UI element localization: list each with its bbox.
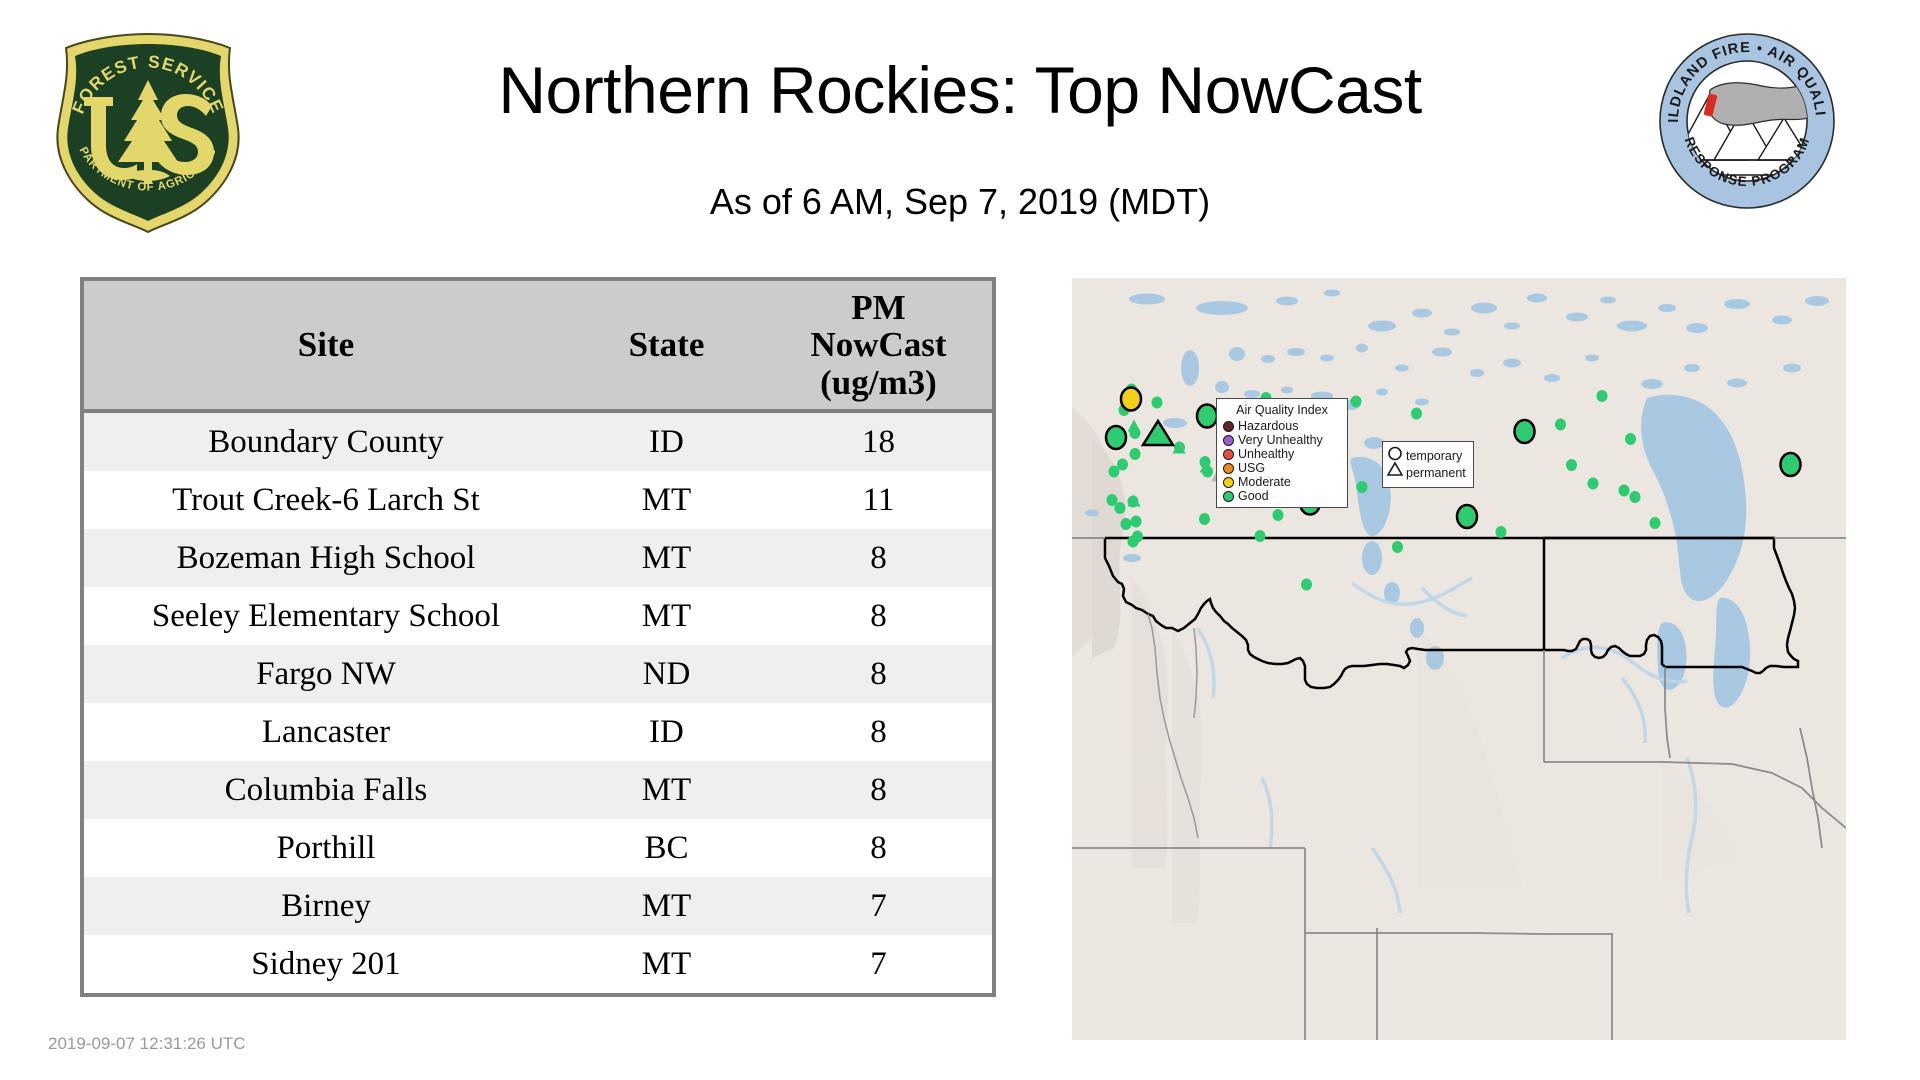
site-type-glyphs xyxy=(1387,445,1403,484)
map-site-marker-small[interactable] xyxy=(1625,433,1636,445)
map-site-marker-small[interactable] xyxy=(1619,485,1630,497)
aqi-color-dot-icon xyxy=(1223,435,1234,446)
column-header-site: Site xyxy=(84,281,568,411)
aqi-legend: Air Quality Index HazardousVery Unhealth… xyxy=(1216,398,1348,508)
nowcast-table-container: Site State PM NowCast (ug/m3) Boundary C… xyxy=(80,277,996,997)
map-site-marker-small[interactable] xyxy=(1588,478,1599,490)
aqi-legend-item: Good xyxy=(1223,489,1341,503)
footer-timestamp: 2019-09-07 12:31:26 UTC xyxy=(48,1034,246,1054)
map-site-marker-small[interactable] xyxy=(1351,396,1362,408)
table-header: Site State PM NowCast (ug/m3) xyxy=(84,281,992,411)
aqi-color-dot-icon xyxy=(1223,477,1234,488)
map-site-marker-small[interactable] xyxy=(1115,502,1126,514)
site-type-legend: temporary permanent xyxy=(1382,441,1474,488)
column-header-line-2: NowCast xyxy=(765,326,992,363)
site-cell: Seeley Elementary School xyxy=(84,587,568,645)
map-site-marker-temporary[interactable] xyxy=(1197,405,1217,428)
table-row: Seeley Elementary SchoolMT8 xyxy=(84,587,992,645)
aqi-legend-title: Air Quality Index xyxy=(1223,403,1341,417)
state-cell: MT xyxy=(568,877,765,935)
map-site-marker-small[interactable] xyxy=(1555,419,1566,431)
table-row: PorthillBC8 xyxy=(84,819,992,877)
map-site-marker-small[interactable] xyxy=(1566,459,1577,471)
aqi-legend-item: Hazardous xyxy=(1223,419,1341,433)
aqi-legend-label: Moderate xyxy=(1238,475,1291,489)
value-cell: 8 xyxy=(765,587,992,645)
page-subtitle: As of 6 AM, Sep 7, 2019 (MDT) xyxy=(0,181,1920,223)
aqi-legend-label: USG xyxy=(1238,461,1265,475)
map-site-marker-temporary[interactable] xyxy=(1121,388,1141,411)
state-cell: MT xyxy=(568,587,765,645)
site-cell: Birney xyxy=(84,877,568,935)
state-cell: BC xyxy=(568,819,765,877)
state-cell: MT xyxy=(568,761,765,819)
aqi-legend-label: Very Unhealthy xyxy=(1238,433,1323,447)
aqi-legend-item: Unhealthy xyxy=(1223,447,1341,461)
aqi-color-dot-icon xyxy=(1223,491,1234,502)
value-cell: 7 xyxy=(765,877,992,935)
aqi-color-dot-icon xyxy=(1223,449,1234,460)
site-cell: Sidney 201 xyxy=(84,935,568,993)
state-cell: ND xyxy=(568,645,765,703)
temporary-circle-icon xyxy=(1389,448,1401,460)
value-cell: 18 xyxy=(765,411,992,471)
map-site-marker-permanent-small[interactable] xyxy=(1128,420,1141,432)
value-cell: 8 xyxy=(765,529,992,587)
map-site-marker-small[interactable] xyxy=(1496,526,1507,538)
nowcast-table: Site State PM NowCast (ug/m3) Boundary C… xyxy=(84,281,992,993)
aqi-color-dot-icon xyxy=(1223,463,1234,474)
site-cell: Columbia Falls xyxy=(84,761,568,819)
column-header-line-3: (ug/m3) xyxy=(765,364,992,401)
aqi-color-dot-icon xyxy=(1223,421,1234,432)
state-cell: MT xyxy=(568,935,765,993)
state-cell: ID xyxy=(568,411,765,471)
value-cell: 8 xyxy=(765,703,992,761)
aqi-legend-item: USG xyxy=(1223,461,1341,475)
table-body: Boundary CountyID18Trout Creek-6 Larch S… xyxy=(84,411,992,993)
map-site-marker-small[interactable] xyxy=(1255,530,1266,542)
table-header-row: Site State PM NowCast (ug/m3) xyxy=(84,281,992,411)
column-header-state: State xyxy=(568,281,765,411)
map-site-marker-small[interactable] xyxy=(1411,408,1422,420)
column-header-line-1: PM xyxy=(765,289,992,326)
air-quality-map[interactable] xyxy=(1072,278,1846,1040)
aqi-legend-label: Unhealthy xyxy=(1238,447,1294,461)
map-site-marker-temporary[interactable] xyxy=(1457,505,1477,528)
table-row: BirneyMT7 xyxy=(84,877,992,935)
map-site-marker-small[interactable] xyxy=(1650,517,1661,529)
state-cell: ID xyxy=(568,703,765,761)
map-site-marker-temporary[interactable] xyxy=(1106,426,1126,449)
site-cell: Lancaster xyxy=(84,703,568,761)
map-site-marker-small[interactable] xyxy=(1131,516,1142,528)
table-row: Sidney 201MT7 xyxy=(84,935,992,993)
map-site-marker-small[interactable] xyxy=(1273,509,1284,521)
value-cell: 7 xyxy=(765,935,992,993)
column-header-pm-nowcast: PM NowCast (ug/m3) xyxy=(765,281,992,411)
map-site-marker-small[interactable] xyxy=(1128,536,1139,548)
page-title: Northern Rockies: Top NowCast xyxy=(0,52,1920,128)
map-site-marker-small[interactable] xyxy=(1152,397,1163,409)
aqi-legend-item: Moderate xyxy=(1223,475,1341,489)
state-cell: MT xyxy=(568,471,765,529)
map-site-marker-temporary[interactable] xyxy=(1515,420,1535,443)
site-cell: Bozeman High School xyxy=(84,529,568,587)
value-cell: 8 xyxy=(765,761,992,819)
map-site-marker-small[interactable] xyxy=(1130,448,1141,460)
map-site-marker-small[interactable] xyxy=(1392,541,1403,553)
site-type-label-permanent: permanent xyxy=(1406,465,1466,482)
state-cell: MT xyxy=(568,529,765,587)
site-type-labels: temporary permanent xyxy=(1406,448,1466,482)
value-cell: 8 xyxy=(765,819,992,877)
permanent-triangle-icon xyxy=(1388,463,1402,475)
value-cell: 8 xyxy=(765,645,992,703)
map-site-marker-small[interactable] xyxy=(1301,579,1312,591)
map-site-marker-small[interactable] xyxy=(1597,390,1608,402)
site-cell: Trout Creek-6 Larch St xyxy=(84,471,568,529)
site-cell: Fargo NW xyxy=(84,645,568,703)
map-site-marker-temporary[interactable] xyxy=(1781,453,1801,476)
aqi-legend-label: Hazardous xyxy=(1238,419,1298,433)
table-row: LancasterID8 xyxy=(84,703,992,761)
map-site-marker-permanent[interactable] xyxy=(1143,421,1173,445)
table-row: Bozeman High SchoolMT8 xyxy=(84,529,992,587)
site-cell: Boundary County xyxy=(84,411,568,471)
aqi-legend-items: HazardousVery UnhealthyUnhealthyUSGModer… xyxy=(1223,419,1341,503)
site-cell: Porthill xyxy=(84,819,568,877)
table-row: Trout Creek-6 Larch StMT11 xyxy=(84,471,992,529)
value-cell: 11 xyxy=(765,471,992,529)
table-row: Columbia FallsMT8 xyxy=(84,761,992,819)
map-site-marker-small[interactable] xyxy=(1121,518,1132,530)
map-site-marker-small[interactable] xyxy=(1199,513,1210,525)
site-type-label-temporary: temporary xyxy=(1406,448,1466,465)
table-row: Boundary CountyID18 xyxy=(84,411,992,471)
map-site-marker-small[interactable] xyxy=(1109,466,1120,478)
aqi-legend-item: Very Unhealthy xyxy=(1223,433,1341,447)
map-site-marker-small[interactable] xyxy=(1357,481,1368,493)
map-site-marker-small[interactable] xyxy=(1630,491,1641,503)
table-row: Fargo NWND8 xyxy=(84,645,992,703)
aqi-legend-label: Good xyxy=(1238,489,1269,503)
